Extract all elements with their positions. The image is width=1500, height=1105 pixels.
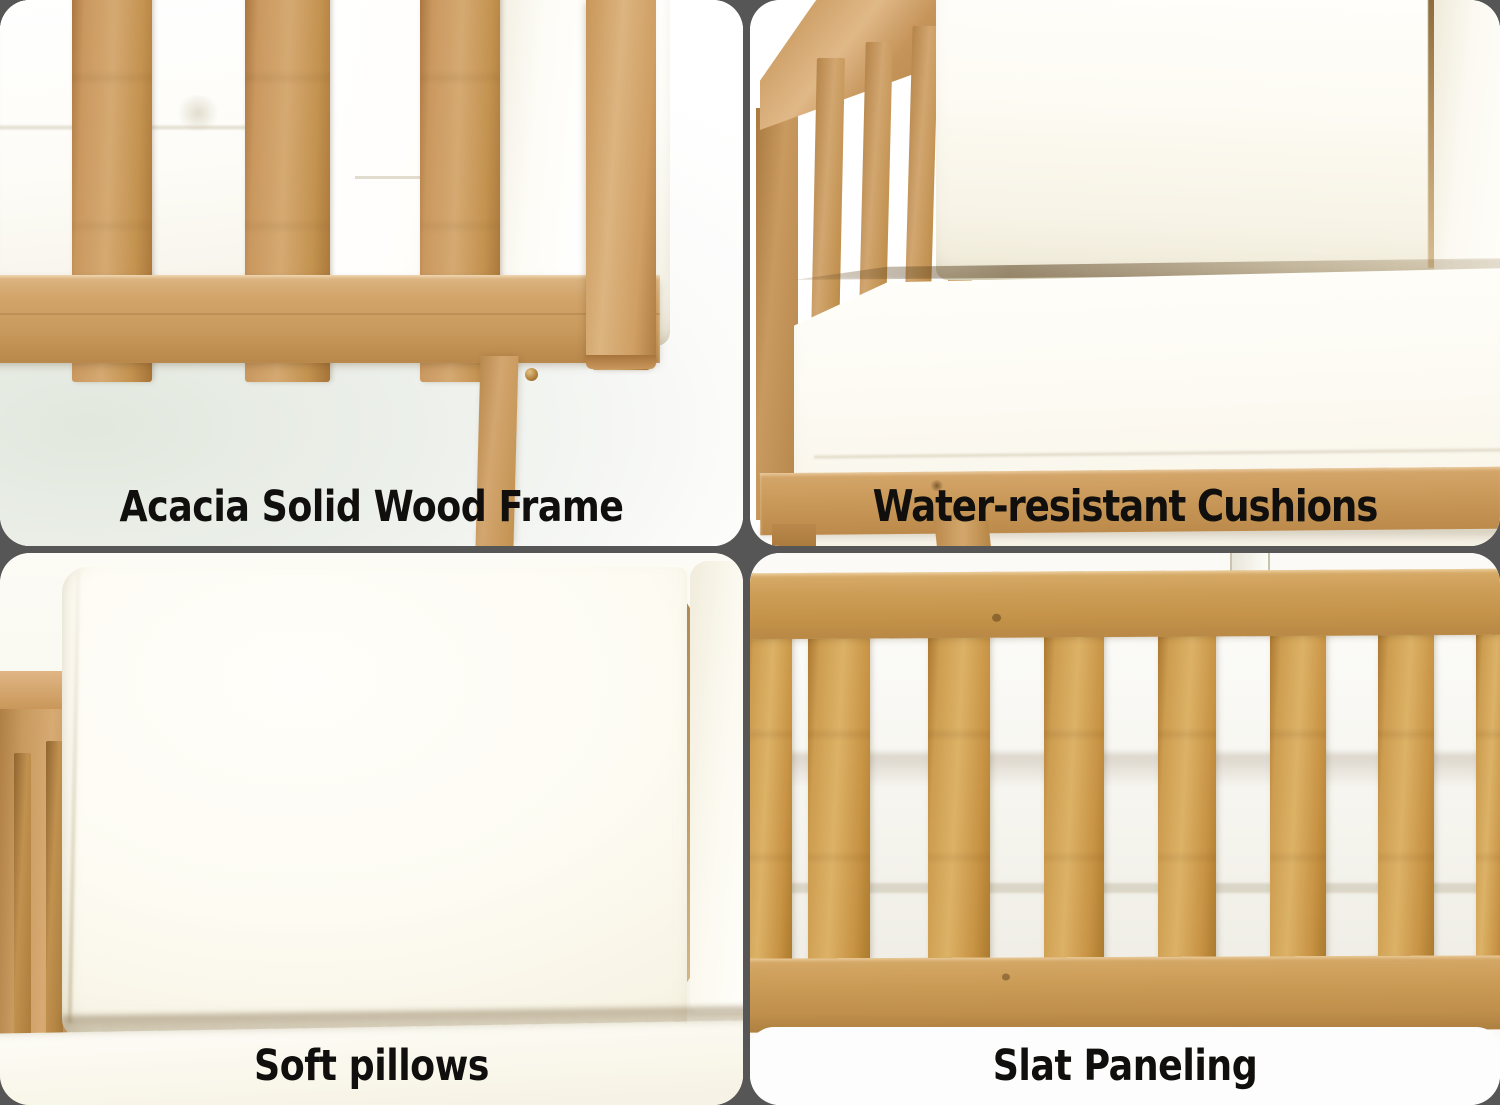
wood-arm-slat: [46, 741, 63, 1071]
product-photo-pillows: [0, 553, 743, 1105]
wood-bottom-rail: [0, 275, 660, 363]
feature-panel-slat-paneling: Slat Paneling: [750, 553, 1500, 1105]
wood-slat: [928, 625, 990, 967]
wood-slat: [808, 625, 870, 967]
wood-bottom-rail: [750, 955, 1500, 1032]
wood-slat: [1044, 625, 1104, 967]
wood-slat: [750, 625, 792, 967]
cushion-dimple: [175, 95, 221, 131]
wood-top-rail: [750, 569, 1500, 640]
screw-head: [525, 368, 538, 381]
product-photo-wood-frame: [0, 0, 743, 546]
back-cushion-secondary: [1434, 0, 1500, 272]
wood-corner-post: [586, 0, 656, 364]
panel-caption: Slat Paneling: [750, 1027, 1500, 1105]
panel-caption: Acacia Solid Wood Frame: [0, 468, 743, 546]
wood-slat: [1378, 625, 1434, 967]
back-pillow: [62, 567, 687, 1037]
wood-slat: [1476, 625, 1500, 967]
caption-label: Water-resistant Cushions: [773, 485, 1478, 529]
wood-slat: [1270, 625, 1326, 967]
back-cushion: [936, 0, 1500, 280]
caption-label: Acacia Solid Wood Frame: [22, 486, 720, 529]
panel-caption: Water-resistant Cushions: [750, 468, 1500, 546]
feature-panel-soft-pillows: Soft pillows: [0, 553, 743, 1105]
feature-collage: Acacia Solid Wood Frame Water-resistant …: [0, 0, 1500, 1105]
pillow-secondary: [690, 561, 743, 1013]
caption-label: Slat Paneling: [773, 1045, 1478, 1088]
panel-caption: Soft pillows: [0, 1027, 743, 1105]
product-photo-slat-panel: [750, 553, 1500, 1105]
wood-arm-outer-post: [756, 108, 798, 520]
feature-panel-water-resistant-cushions: Water-resistant Cushions: [750, 0, 1500, 546]
product-photo-cushions: [750, 0, 1500, 546]
caption-label: Soft pillows: [22, 1045, 720, 1088]
wood-slat: [1158, 625, 1216, 967]
feature-panel-acacia-solid-wood-frame: Acacia Solid Wood Frame: [0, 0, 743, 546]
